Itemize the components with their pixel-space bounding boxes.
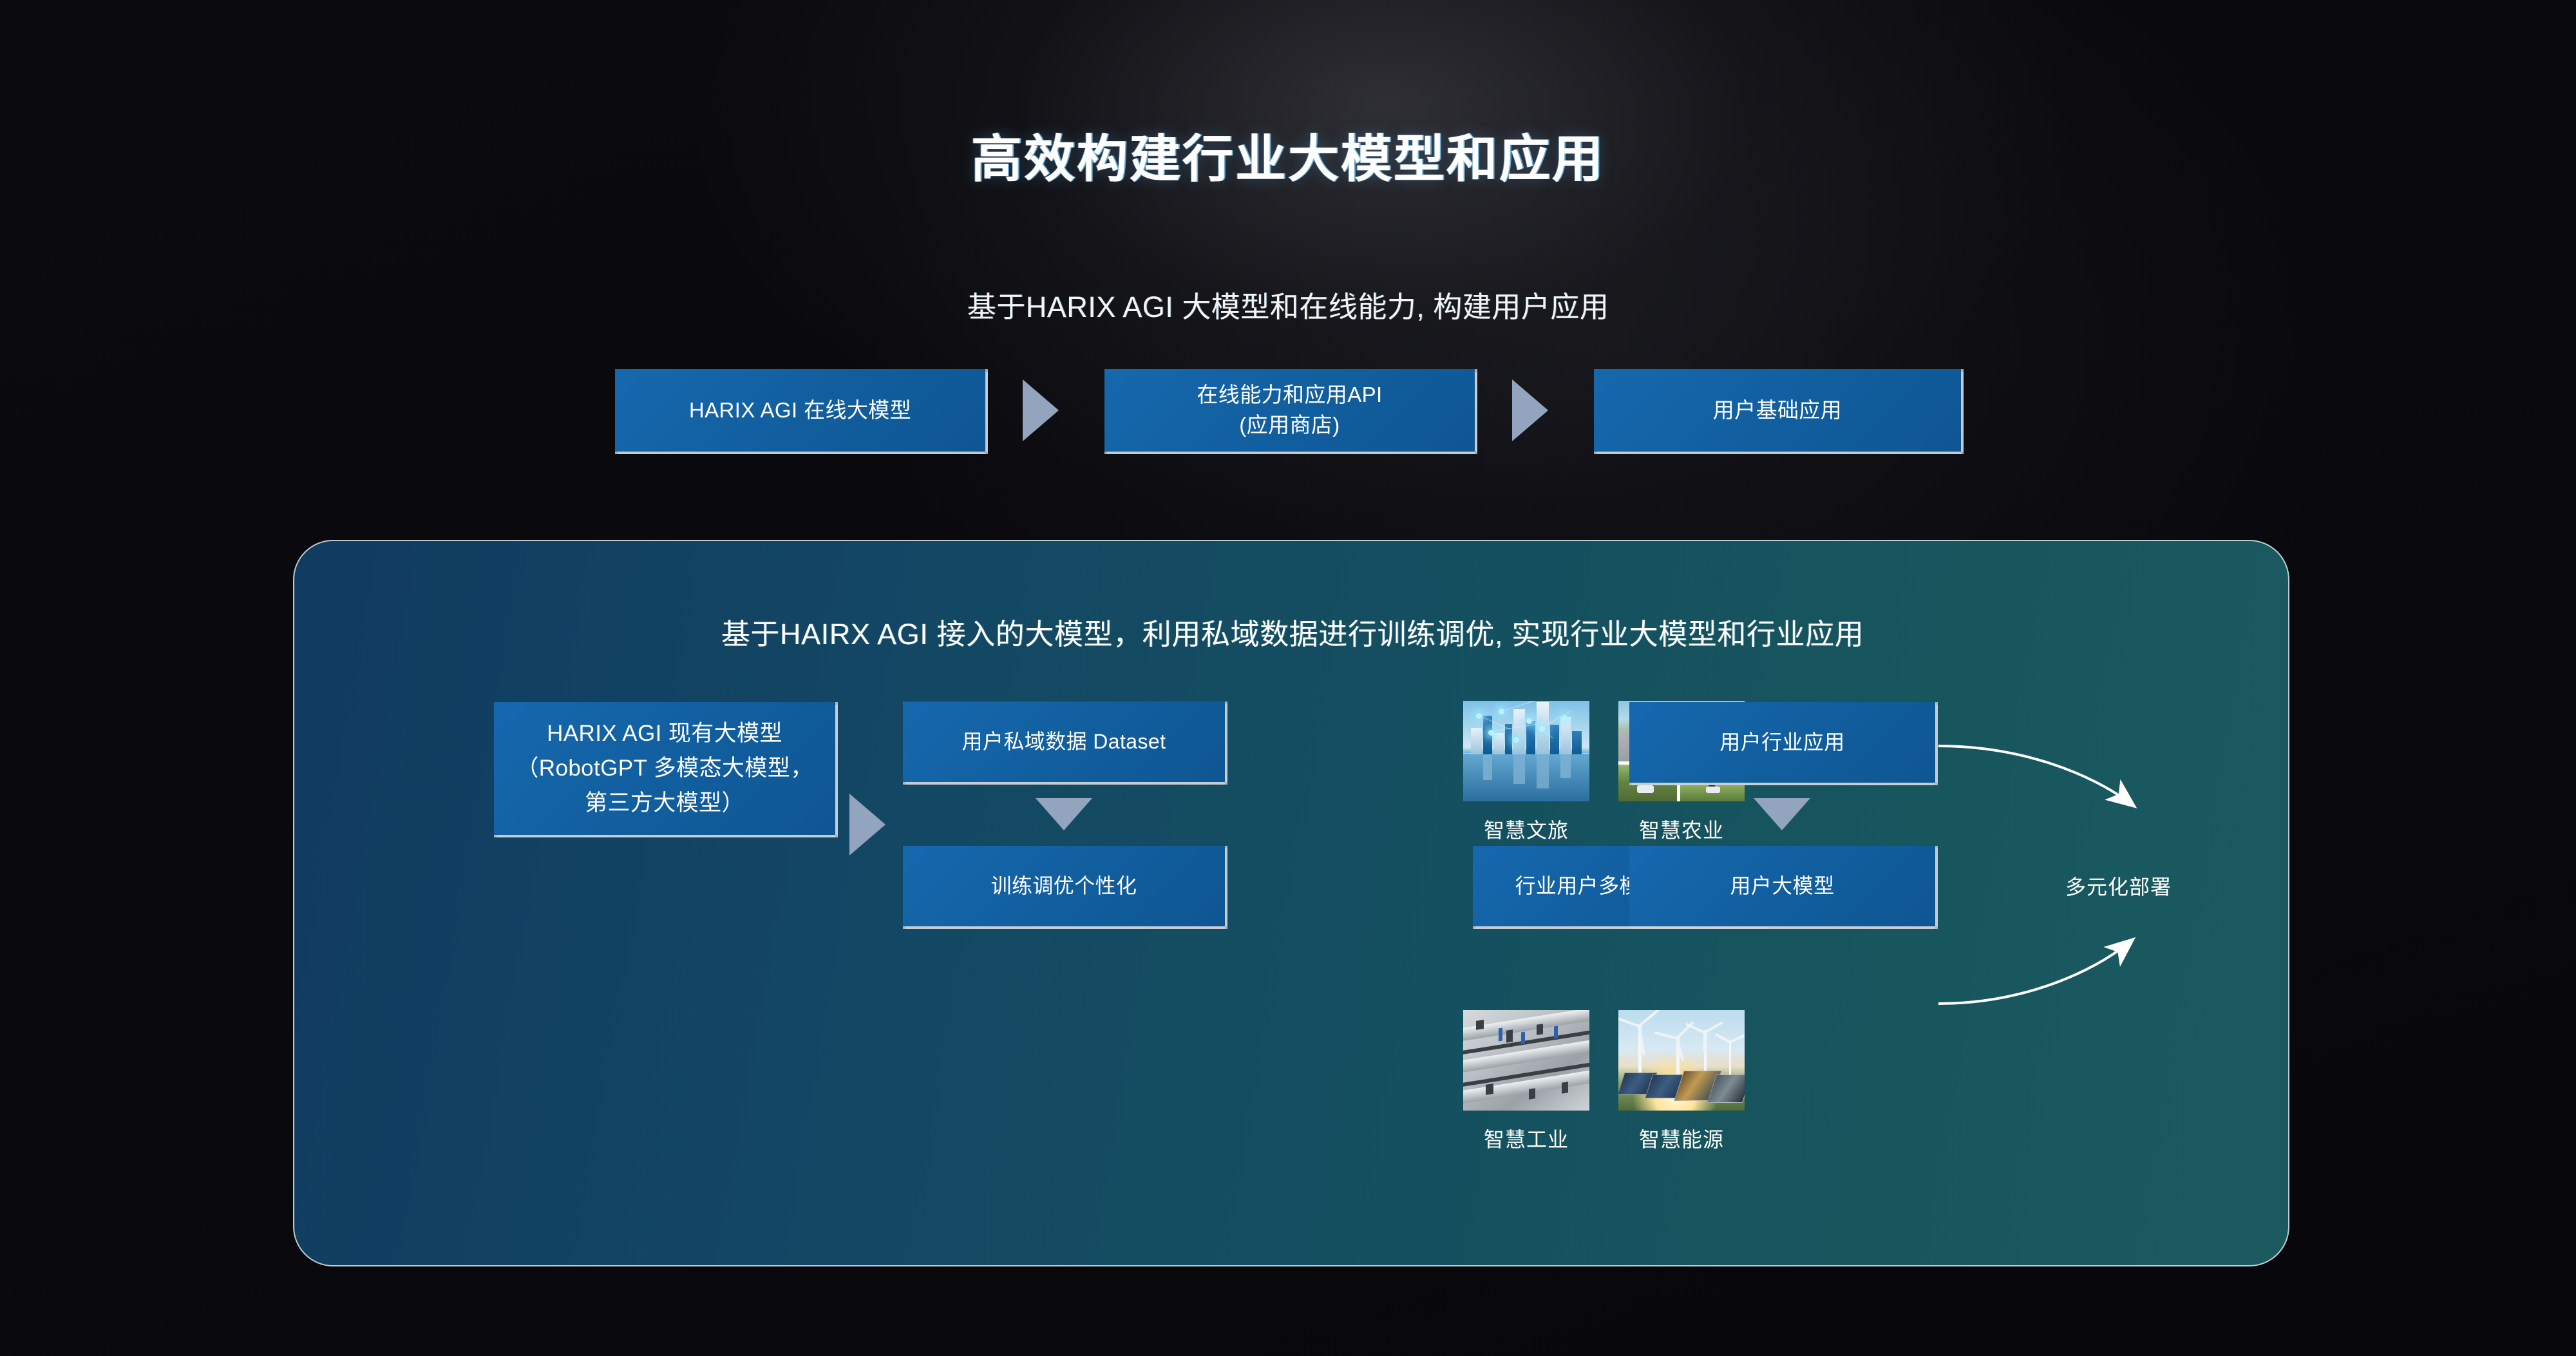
slide-canvas: 高效构建行业大模型和应用 基于HARIX AGI 大模型和在线能力, 构建用户应… [0, 0, 2576, 1356]
user-big-model-label: 用户大模型 [1730, 872, 1834, 901]
harix-model-line-1: HARIX AGI 现有大模型 [516, 716, 813, 751]
panel-heading: 基于HAIRX AGI 接入的大模型，利用私域数据进行训练调优, 实现行业大模型… [294, 611, 2289, 653]
harix-model-line-3: 第三方大模型） [516, 786, 813, 821]
thumbnail-smart-industry[interactable] [1463, 1010, 1589, 1111]
harix-existing-model-box[interactable]: HARIX AGI 现有大模型 （RobotGPT 多模态大模型， 第三方大模型… [494, 702, 835, 835]
user-big-model-box[interactable]: 用户大模型 [1629, 846, 1935, 926]
top-flow-step-2-label: 在线能力和应用API [1197, 380, 1382, 410]
thumbnail-smart-industry-caption: 智慧工业 [1463, 1123, 1589, 1153]
thumbnail-smart-city[interactable] [1463, 701, 1589, 801]
top-flow-step-2[interactable]: 在线能力和应用API (应用商店) [1104, 369, 1475, 452]
triangle-right-icon [1023, 379, 1059, 441]
industry-model-panel: 基于HAIRX AGI 接入的大模型，利用私域数据进行训练调优, 实现行业大模型… [293, 540, 2289, 1266]
thumbnail-smart-energy-caption: 智慧能源 [1618, 1123, 1745, 1153]
training-tuning-box[interactable]: 训练调优个性化 [903, 846, 1225, 926]
triangle-right-icon [849, 794, 885, 855]
harix-model-line-2: （RobotGPT 多模态大模型， [516, 751, 813, 786]
user-application-label: 用户行业应用 [1719, 728, 1844, 757]
thumbnail-smart-city-caption: 智慧文旅 [1463, 814, 1589, 844]
page-title: 高效构建行业大模型和应用 [0, 117, 2576, 191]
user-application-box[interactable]: 用户行业应用 [1629, 702, 1935, 783]
smart-energy-icon [1618, 1010, 1745, 1111]
private-dataset-label: 用户私域数据 Dataset [962, 727, 1166, 756]
top-flow-step-1-label: HARIX AGI 在线大模型 [689, 396, 911, 426]
triangle-right-icon [1512, 379, 1548, 441]
top-flow-step-1[interactable]: HARIX AGI 在线大模型 [615, 369, 985, 452]
training-tuning-label: 训练调优个性化 [991, 872, 1137, 901]
triangle-down-icon [1036, 798, 1092, 830]
page-subtitle: 基于HARIX AGI 大模型和在线能力, 构建用户应用 [0, 283, 2576, 325]
private-dataset-box[interactable]: 用户私域数据 Dataset [903, 702, 1225, 782]
smart-city-icon [1463, 701, 1589, 801]
top-flow-step-3[interactable]: 用户基础应用 [1594, 369, 1961, 452]
smart-industry-icon [1463, 1010, 1589, 1111]
thumbnail-smart-energy[interactable] [1618, 1010, 1745, 1111]
top-flow-step-2-sublabel: (应用商店) [1197, 410, 1382, 441]
deployment-label: 多元化部署 [2065, 871, 2172, 901]
thumbnail-smart-agriculture-caption: 智慧农业 [1618, 814, 1745, 844]
triangle-down-icon [1754, 798, 1810, 830]
top-flow-step-3-label: 用户基础应用 [1713, 396, 1842, 426]
